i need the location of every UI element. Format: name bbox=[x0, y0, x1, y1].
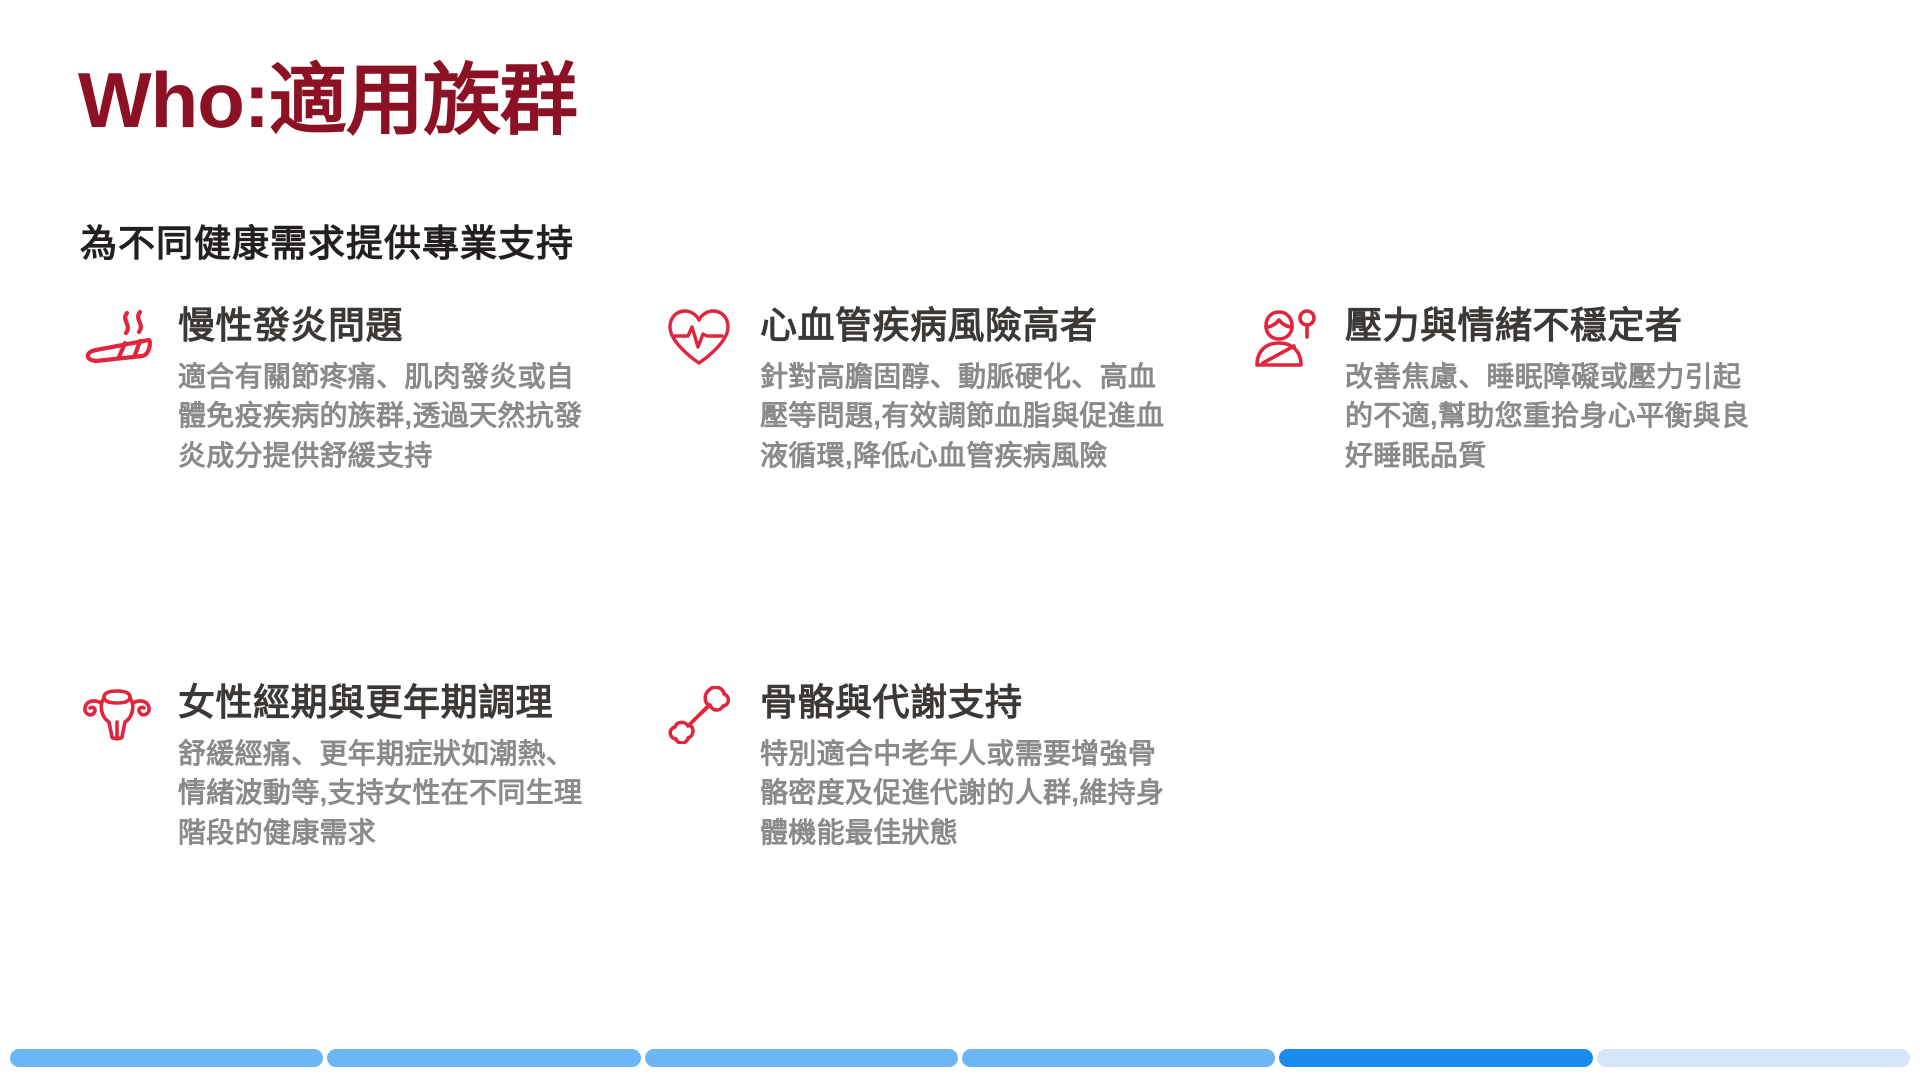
progress-segment[interactable] bbox=[962, 1049, 1275, 1067]
bone-icon bbox=[660, 685, 738, 745]
progress-segment[interactable] bbox=[327, 1049, 640, 1067]
page-title: Who:適用族群 bbox=[78, 58, 577, 144]
card-description: 改善焦慮、睡眠障礙或壓力引起的不適,幫助您重拾身心平衡與良好睡眠品質 bbox=[1345, 357, 1765, 476]
progress-segment[interactable] bbox=[10, 1049, 323, 1067]
cigarette-smoke-icon bbox=[78, 308, 156, 368]
card-description: 適合有關節疼痛、肌肉發炎或自體免疫疾病的族群,透過天然抗發炎成分提供舒緩支持 bbox=[178, 357, 598, 476]
card-cardiovascular-risk: 心血管疾病風險高者 針對高膽固醇、動脈硬化、高血壓等問題,有效調節血脂與促進血液… bbox=[660, 300, 1180, 476]
card-title: 女性經期與更年期調理 bbox=[178, 677, 598, 730]
card-title: 壓力與情緒不穩定者 bbox=[1345, 300, 1765, 353]
slide-progress-bar[interactable] bbox=[0, 1049, 1920, 1067]
stressed-person-icon bbox=[1245, 308, 1323, 368]
slide-root: Who:適用族群 為不同健康需求提供專業支持 慢性發炎問題 適合有關節疼痛、肌肉… bbox=[0, 0, 1920, 1080]
card-body: 壓力與情緒不穩定者 改善焦慮、睡眠障礙或壓力引起的不適,幫助您重拾身心平衡與良好… bbox=[1345, 300, 1765, 476]
card-title: 骨骼與代謝支持 bbox=[760, 677, 1180, 730]
uterus-icon bbox=[78, 685, 156, 745]
card-chronic-inflammation: 慢性發炎問題 適合有關節疼痛、肌肉發炎或自體免疫疾病的族群,透過天然抗發炎成分提… bbox=[78, 300, 598, 476]
card-title: 心血管疾病風險高者 bbox=[760, 300, 1180, 353]
card-description: 特別適合中老年人或需要增強骨骼密度及促進代謝的人群,維持身體機能最佳狀態 bbox=[760, 734, 1180, 853]
card-female-cycle: 女性經期與更年期調理 舒緩經痛、更年期症狀如潮熱、情緒波動等,支持女性在不同生理… bbox=[78, 677, 598, 853]
card-body: 心血管疾病風險高者 針對高膽固醇、動脈硬化、高血壓等問題,有效調節血脂與促進血液… bbox=[760, 300, 1180, 476]
card-title: 慢性發炎問題 bbox=[178, 300, 598, 353]
progress-segment-active[interactable] bbox=[1279, 1049, 1592, 1067]
page-subtitle: 為不同健康需求提供專業支持 bbox=[80, 213, 574, 267]
card-bone-metabolism: 骨骼與代謝支持 特別適合中老年人或需要增強骨骼密度及促進代謝的人群,維持身體機能… bbox=[660, 677, 1180, 853]
heart-pulse-icon bbox=[660, 308, 738, 368]
card-description: 針對高膽固醇、動脈硬化、高血壓等問題,有效調節血脂與促進血液循環,降低心血管疾病… bbox=[760, 357, 1180, 476]
card-stress-mood: 壓力與情緒不穩定者 改善焦慮、睡眠障礙或壓力引起的不適,幫助您重拾身心平衡與良好… bbox=[1245, 300, 1765, 476]
card-body: 骨骼與代謝支持 特別適合中老年人或需要增強骨骼密度及促進代謝的人群,維持身體機能… bbox=[760, 677, 1180, 853]
card-body: 慢性發炎問題 適合有關節疼痛、肌肉發炎或自體免疫疾病的族群,透過天然抗發炎成分提… bbox=[178, 300, 598, 476]
card-body: 女性經期與更年期調理 舒緩經痛、更年期症狀如潮熱、情緒波動等,支持女性在不同生理… bbox=[178, 677, 598, 853]
card-description: 舒緩經痛、更年期症狀如潮熱、情緒波動等,支持女性在不同生理階段的健康需求 bbox=[178, 734, 598, 853]
progress-segment[interactable] bbox=[1597, 1049, 1910, 1067]
progress-segment[interactable] bbox=[645, 1049, 958, 1067]
